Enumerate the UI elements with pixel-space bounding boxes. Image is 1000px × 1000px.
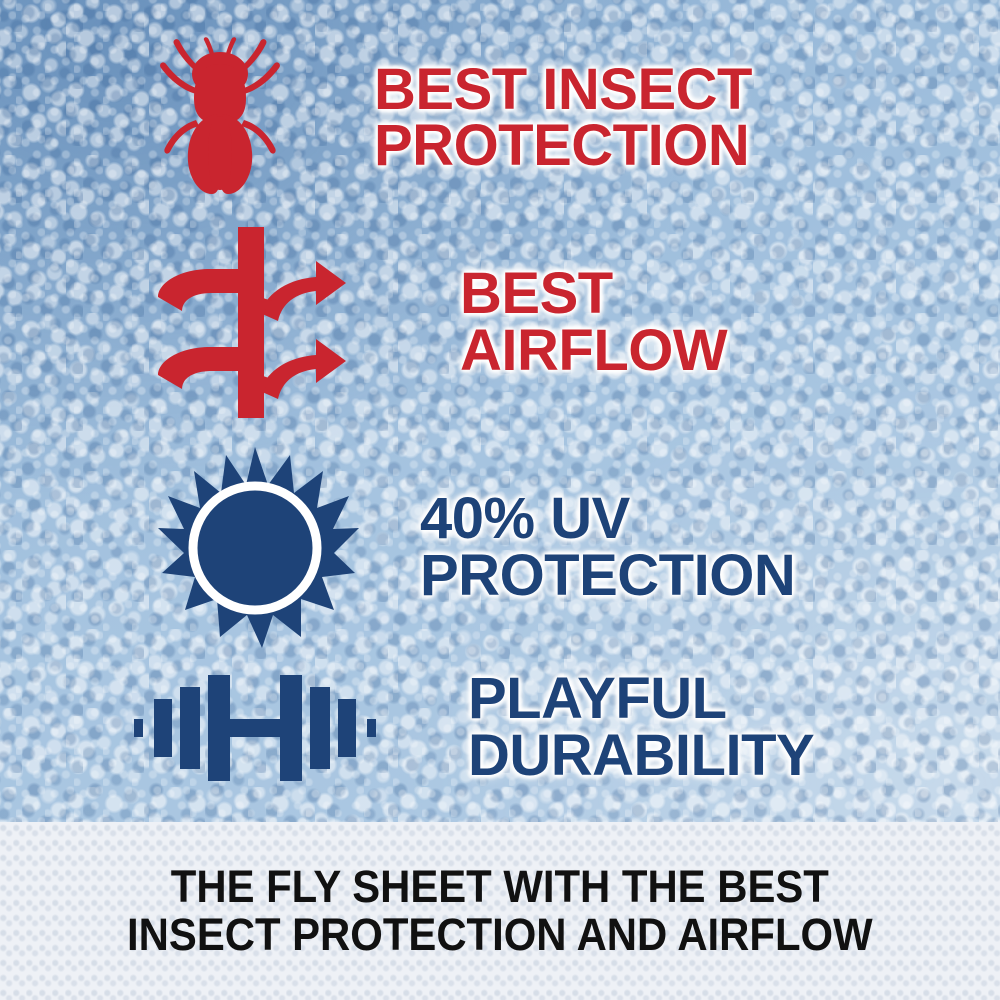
feature-row-durability: PLAYFUL DURABILITY: [130, 655, 930, 800]
sun-uv-icon: [150, 445, 360, 650]
feature-label-durability: PLAYFUL DURABILITY: [468, 671, 814, 784]
feature-row-airflow: BEST AIRFLOW: [150, 225, 930, 420]
feature-label-airflow: BEST AIRFLOW: [460, 266, 727, 379]
feature-label-uv-protection: 40% UV PROTECTION: [420, 491, 795, 604]
feature-row-insect-protection: BEST INSECT PROTECTION: [150, 28, 930, 208]
product-feature-poster: BEST INSECT PROTECTION: [0, 0, 1000, 1000]
fly-icon: [150, 28, 290, 208]
feature-label-insect-protection: BEST INSECT PROTECTION: [374, 62, 752, 175]
feature-row-uv-protection: 40% UV PROTECTION: [150, 445, 930, 650]
caption-text: THE FLY SHEET WITH THE BEST INSECT PROTE…: [127, 863, 873, 958]
airflow-arrows-icon: [150, 225, 350, 420]
dumbbell-icon: [130, 663, 380, 793]
caption-banner: THE FLY SHEET WITH THE BEST INSECT PROTE…: [0, 822, 1000, 1000]
